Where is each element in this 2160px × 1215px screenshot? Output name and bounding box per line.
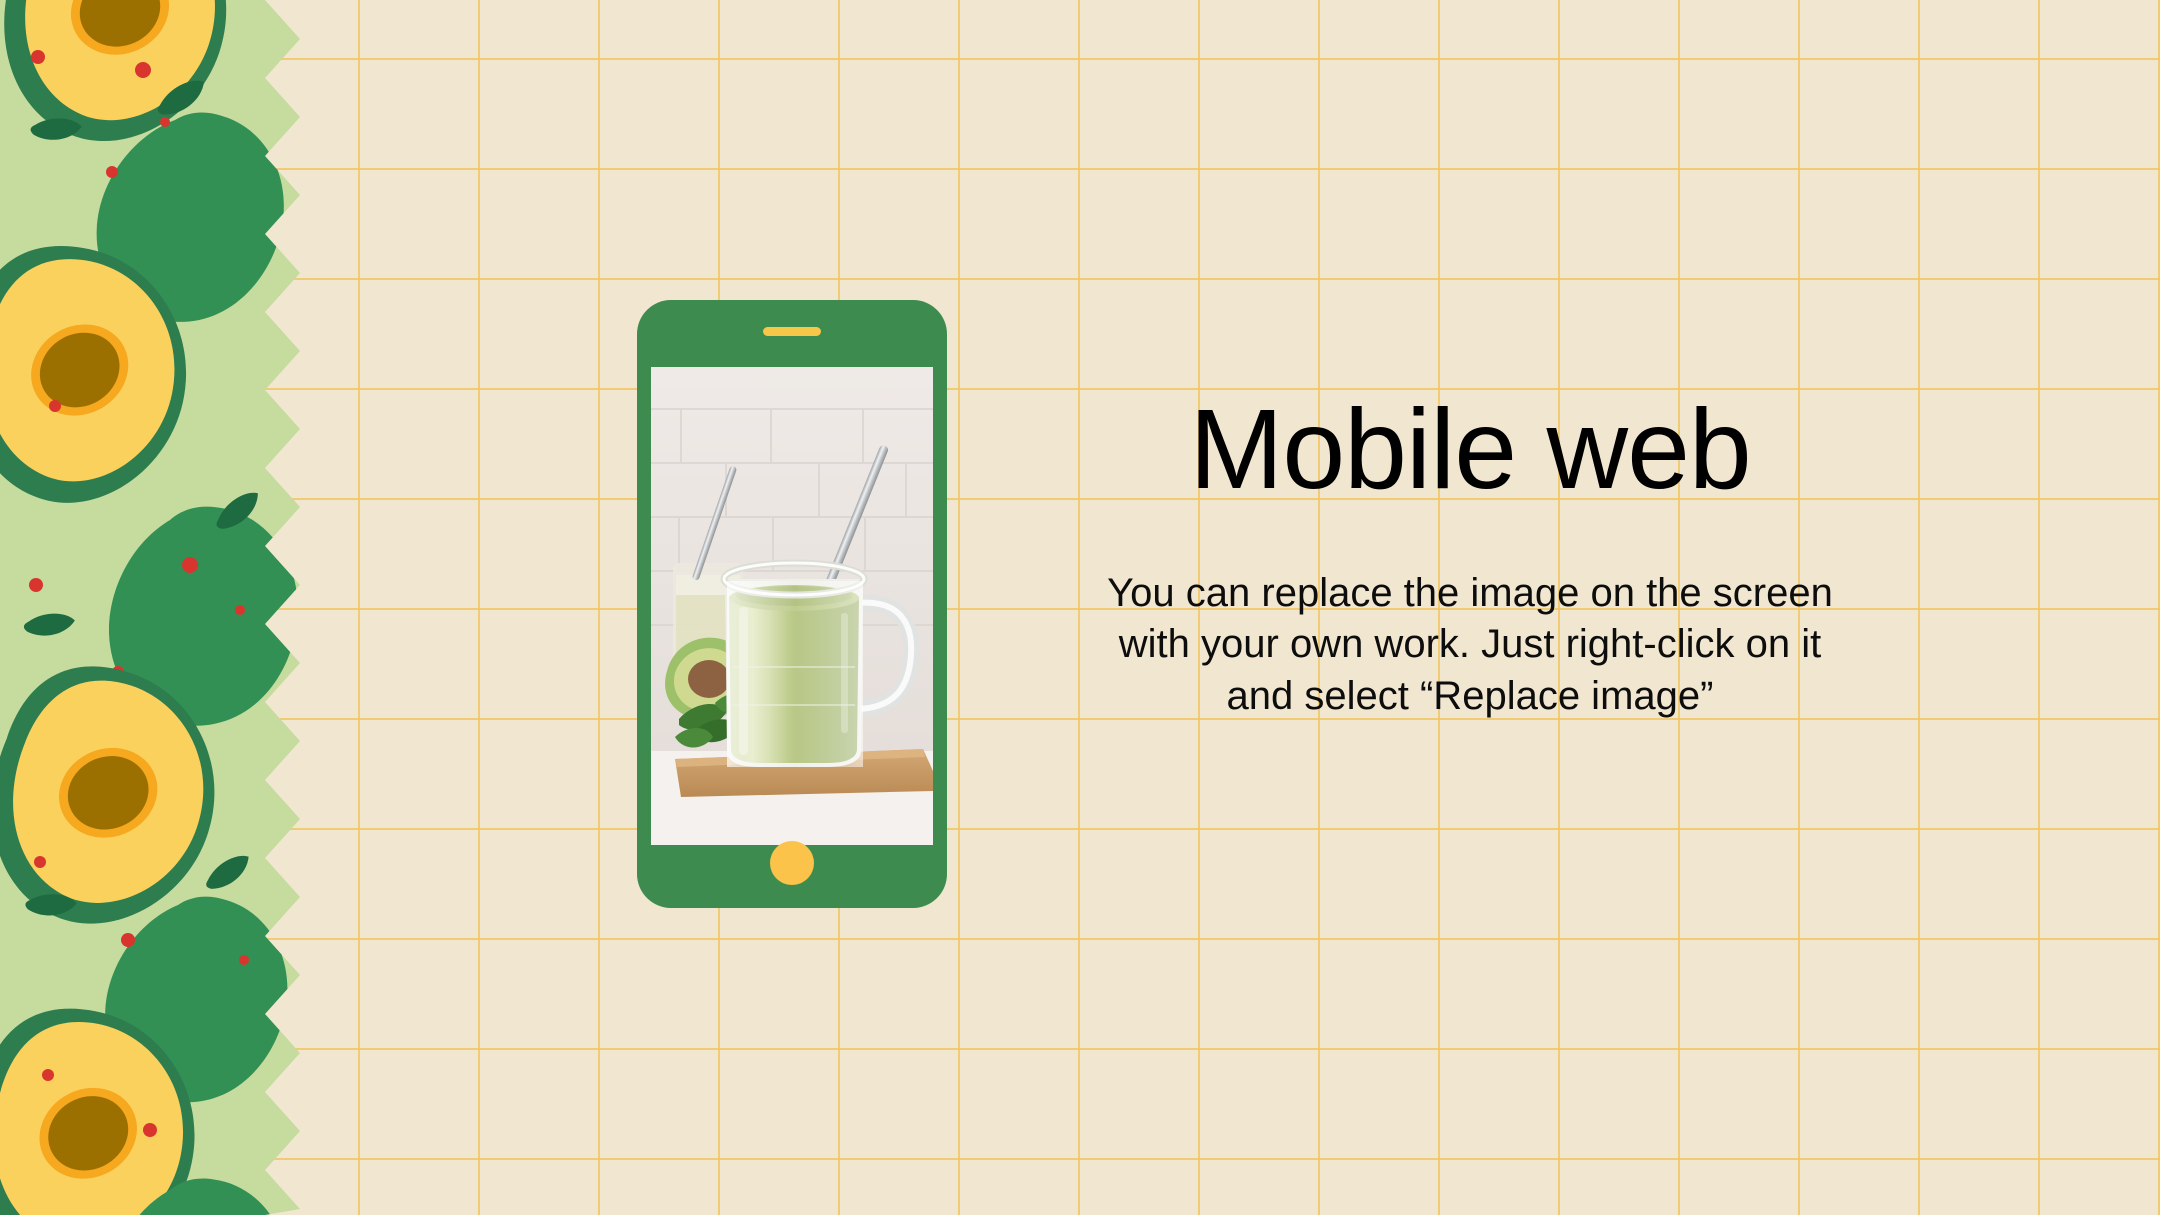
phone-home-button[interactable] [770, 841, 814, 885]
slide-canvas: Mobile web You can replace the image on … [0, 0, 2160, 1215]
text-column: Mobile web You can replace the image on … [1100, 390, 1840, 723]
slide-body-text: You can replace the image on the screen … [1100, 568, 1840, 723]
avocado-pattern-band [0, 0, 300, 1215]
phone-mockup [637, 300, 947, 908]
phone-speaker-icon [763, 327, 821, 336]
page-title: Mobile web [1100, 390, 1840, 510]
phone-screen-image[interactable] [651, 367, 933, 845]
